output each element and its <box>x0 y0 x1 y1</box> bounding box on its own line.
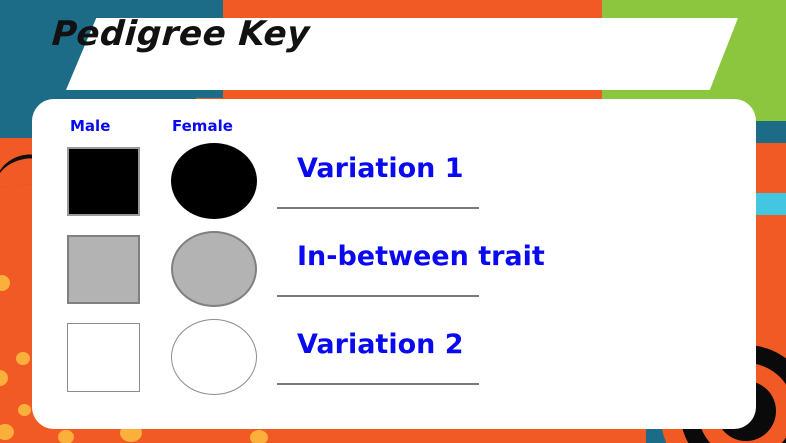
decorative-blob-3 <box>0 370 8 386</box>
decorative-blob-8 <box>250 430 268 443</box>
column-header-female: Female <box>172 117 233 135</box>
decorative-blob-7 <box>58 430 74 443</box>
trait-label-variation-1: Variation 1 <box>297 153 464 184</box>
female-symbol-half-filled-circle <box>171 231 257 307</box>
decorative-blob-5 <box>0 424 14 440</box>
trait-underline-3 <box>277 383 479 385</box>
trait-label-variation-2: Variation 2 <box>297 329 464 360</box>
decorative-blob-2 <box>16 352 30 365</box>
male-symbol-empty-square <box>67 323 140 392</box>
decorative-blob-1 <box>0 275 10 291</box>
decorative-blob-4 <box>18 404 31 416</box>
slide-canvas: Pedigree Key Male Female Variation 1 In-… <box>0 0 786 443</box>
female-symbol-empty-circle <box>171 319 257 395</box>
male-symbol-filled-square <box>67 147 140 216</box>
page-title: Pedigree Key <box>51 14 312 54</box>
column-header-male: Male <box>70 117 110 135</box>
trait-underline-2 <box>277 295 479 297</box>
trait-label-in-between-trait: In-between trait <box>297 241 545 272</box>
female-symbol-filled-circle <box>171 143 257 219</box>
trait-underline-1 <box>277 207 479 209</box>
pedigree-key-card: Male Female Variation 1 In-between trait… <box>32 99 756 429</box>
male-symbol-half-filled-square <box>67 235 140 304</box>
